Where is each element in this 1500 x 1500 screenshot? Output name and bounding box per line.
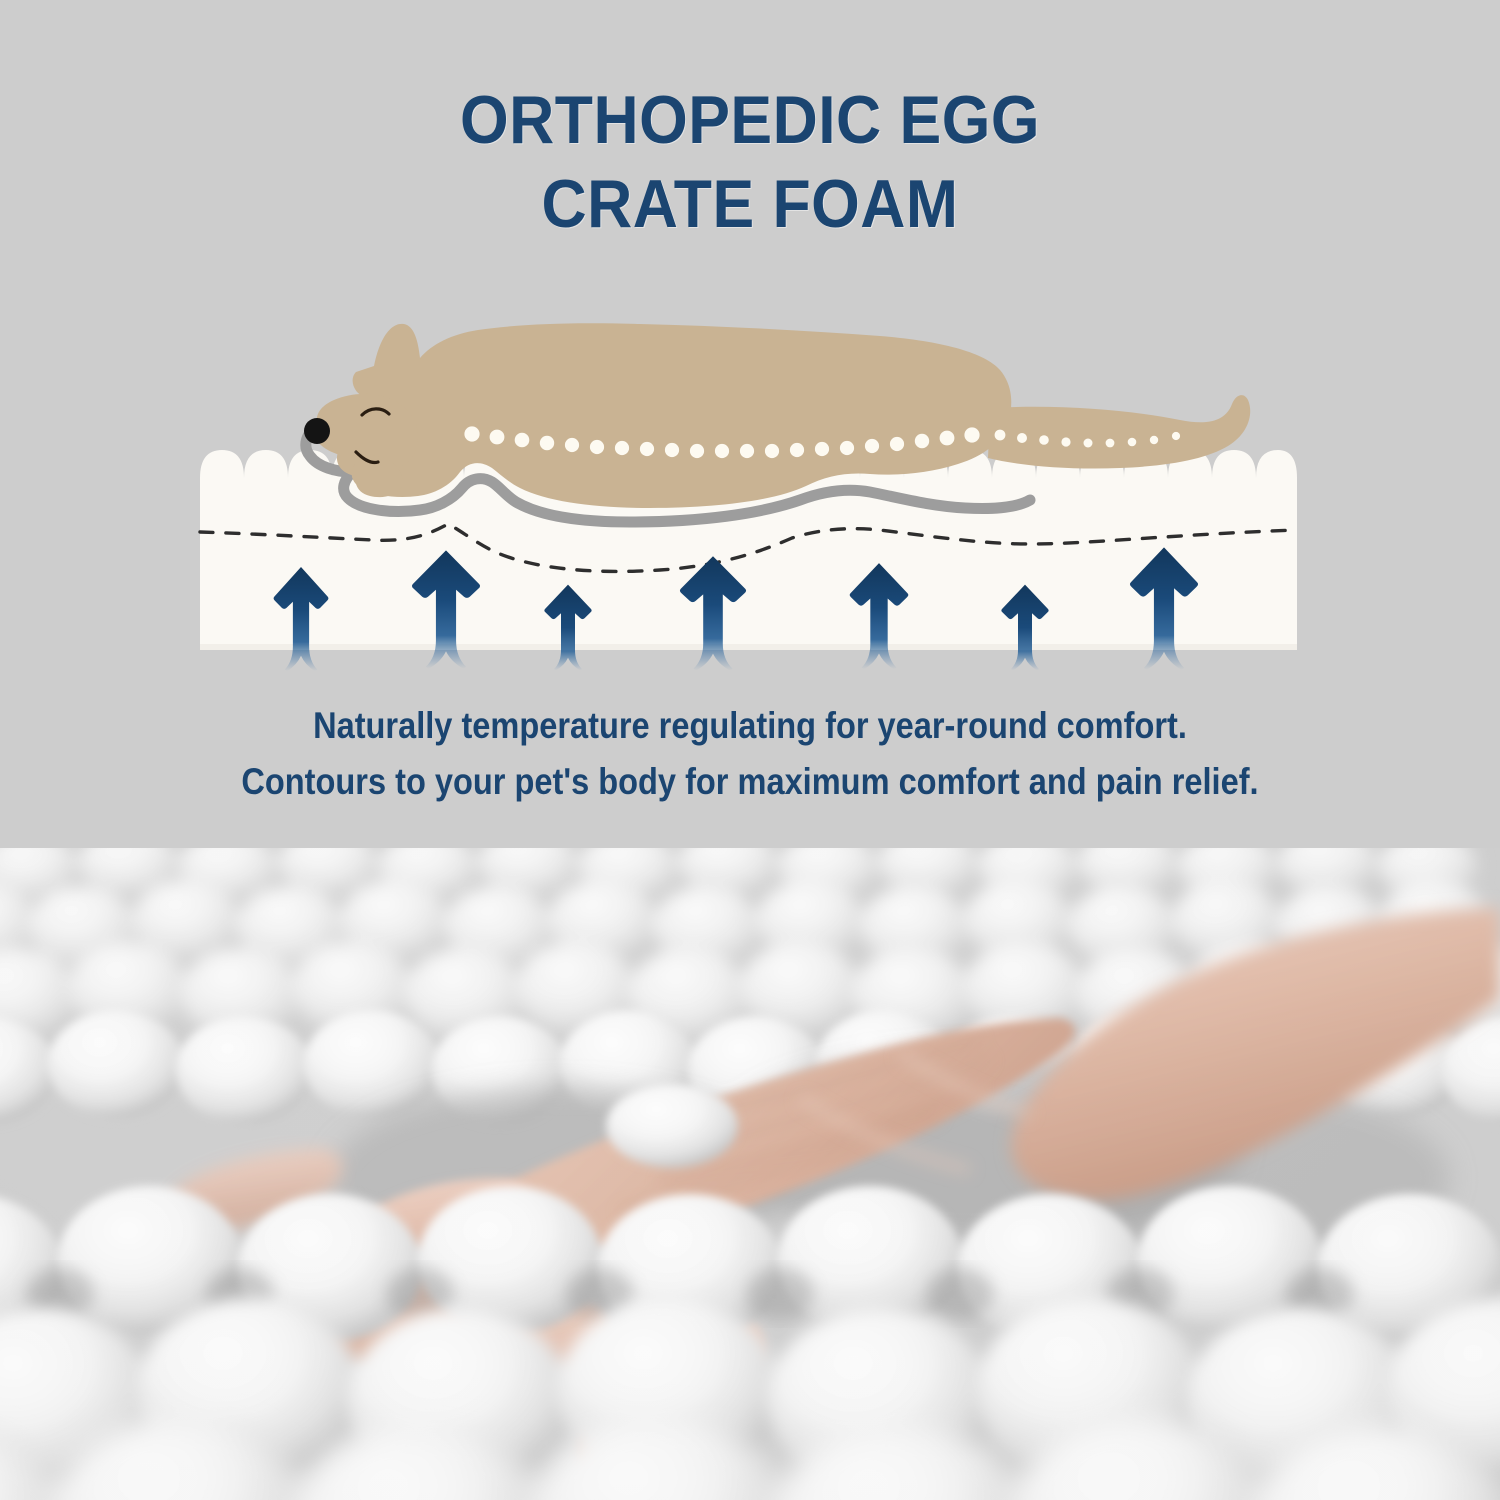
caption-block: Naturally temperature regulating for yea… [90, 698, 1410, 810]
page-title: ORTHOPEDIC EGG CRATE FOAM [60, 78, 1440, 246]
dog-nose [304, 418, 330, 444]
foam-cross-section-diagram [0, 300, 1500, 680]
title-line-1: ORTHOPEDIC EGG [460, 82, 1040, 158]
egg-crate-foam-closeup-photo [0, 848, 1500, 1500]
caption-line-2: Contours to your pet's body for maximum … [90, 754, 1410, 810]
title-line-2: CRATE FOAM [542, 166, 959, 242]
diagram-panel: ORTHOPEDIC EGG CRATE FOAM [0, 0, 1500, 848]
caption-line-1: Naturally temperature regulating for yea… [90, 698, 1410, 754]
